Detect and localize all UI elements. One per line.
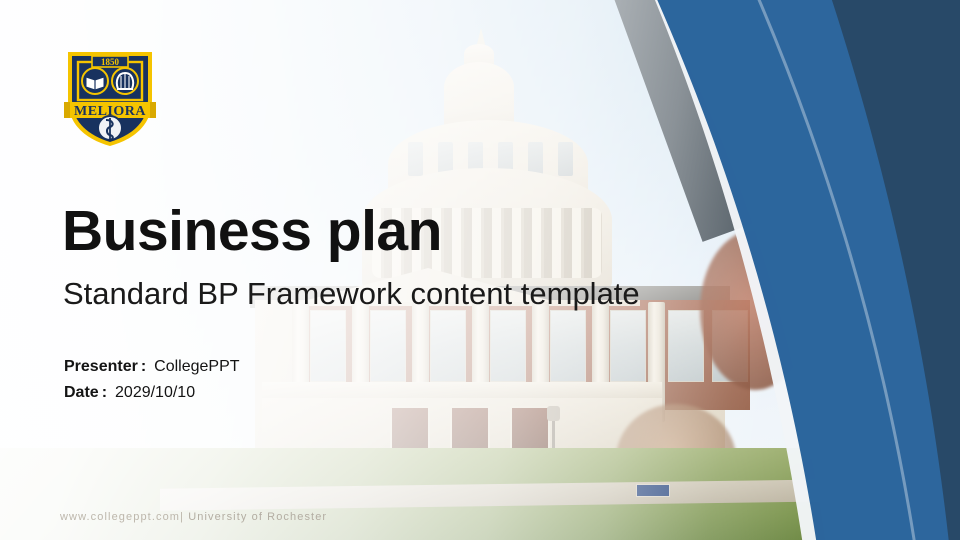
svg-text:1850: 1850 <box>101 57 120 67</box>
footer-site: www.collegeppt.com| <box>60 511 184 523</box>
slide-footer: www.collegeppt.com| University of Roches… <box>60 511 327 523</box>
date-value: 2029/10/10 <box>110 384 195 401</box>
presenter-separator: : <box>138 358 149 375</box>
date-label: Date <box>64 384 99 401</box>
page-subtitle: Standard BP Framework content template <box>63 277 640 311</box>
presenter-value: CollegePPT <box>149 358 239 375</box>
presentation-meta: Presenter:CollegePPT Date:2029/10/10 <box>64 354 240 406</box>
meta-row-presenter: Presenter:CollegePPT <box>64 354 240 380</box>
date-separator: : <box>99 384 110 401</box>
university-of-rochester-shield-logo: 1850 MELIORA <box>62 48 158 148</box>
meta-row-date: Date:2029/10/10 <box>64 380 240 406</box>
footer-organization: University of Rochester <box>188 511 327 523</box>
page-title: Business plan <box>62 202 442 262</box>
presenter-label: Presenter <box>64 358 138 375</box>
title-slide: 1850 MELIORA Business plan Standard BP F… <box>0 0 960 540</box>
